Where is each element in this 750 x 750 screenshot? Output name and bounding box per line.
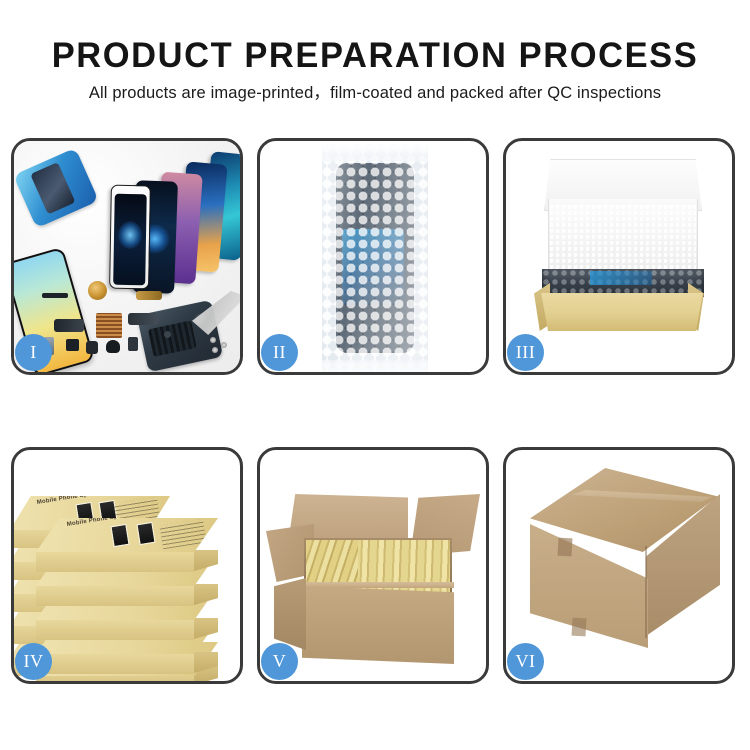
box-side [191, 618, 218, 640]
chip-grid-icon [96, 313, 122, 338]
small-part-1-icon [66, 339, 79, 351]
box-front [36, 586, 194, 606]
speaker-part-icon [42, 293, 68, 298]
product-preparation-infographic: PRODUCT PREPARATION PROCESS All products… [0, 0, 750, 750]
page-subtitle: All products are image-printed，film-coat… [0, 76, 750, 103]
step-6-image [506, 450, 732, 681]
phone-lineup [102, 151, 240, 281]
box-label-screen-1 [111, 524, 130, 547]
step-badge-3: III [507, 334, 544, 371]
bag-seal-bottom [322, 360, 428, 372]
box-stack: Mobile Phone Spare Parts [14, 456, 240, 681]
box-front-panel [536, 293, 708, 331]
box-side [191, 652, 218, 674]
packed-products [542, 269, 704, 297]
step-badge-2: II [261, 334, 298, 371]
step-panel-6: VI [503, 447, 735, 684]
small-part-2-icon [86, 341, 98, 354]
step-badge-5: V [261, 643, 298, 680]
step-badge-1: I [15, 334, 52, 371]
small-part-5-icon [164, 331, 171, 338]
small-part-4-icon [128, 337, 138, 351]
stacked-box-top-right: Mobile Phone Spare Parts [36, 518, 218, 572]
step-panel-3: III [503, 138, 735, 375]
carton-seam-2 [572, 618, 587, 637]
box-top: Mobile Phone Spare Parts [36, 518, 218, 552]
steps-grid: I II [11, 138, 740, 685]
box-label-spec-lines [160, 519, 207, 550]
copper-coil-icon [88, 281, 107, 300]
carton-front-panel [302, 586, 454, 664]
step-4-image: Mobile Phone Spare Parts [14, 450, 240, 681]
foam-liner [550, 205, 696, 271]
step-panel-5: V [257, 447, 489, 684]
step-badge-6: VI [507, 643, 544, 680]
phone-1-icon [109, 185, 151, 290]
step-1-image [14, 141, 240, 372]
step-2-image [260, 141, 486, 372]
bubble-wrap-bag [322, 143, 428, 372]
flex-cable-c-icon [136, 291, 162, 300]
flex-cable-a-icon [54, 319, 84, 332]
box-label-screen-2 [136, 522, 155, 545]
step-3-image [506, 141, 732, 372]
step-badge-4: IV [15, 643, 52, 680]
box-front [36, 552, 194, 572]
page-title: PRODUCT PREPARATION PROCESS [6, 0, 745, 76]
step-5-image [260, 450, 486, 681]
box-side [191, 584, 218, 606]
step-panel-2: II [257, 138, 489, 375]
carton-seam-1 [558, 538, 573, 557]
box-side [191, 550, 218, 572]
step-panel-1: I [11, 138, 243, 375]
carton-vertical-edge [645, 546, 647, 638]
plastic-sheen [322, 143, 428, 372]
flex-cable-b-icon [128, 313, 158, 325]
small-part-3-icon [106, 340, 120, 353]
box-front [36, 654, 194, 674]
bag-seal-top [322, 143, 428, 161]
box-front [36, 620, 194, 640]
step-panel-4: Mobile Phone Spare Parts [11, 447, 243, 684]
screws-icon [210, 337, 236, 353]
header: PRODUCT PREPARATION PROCESS All products… [0, 0, 750, 103]
